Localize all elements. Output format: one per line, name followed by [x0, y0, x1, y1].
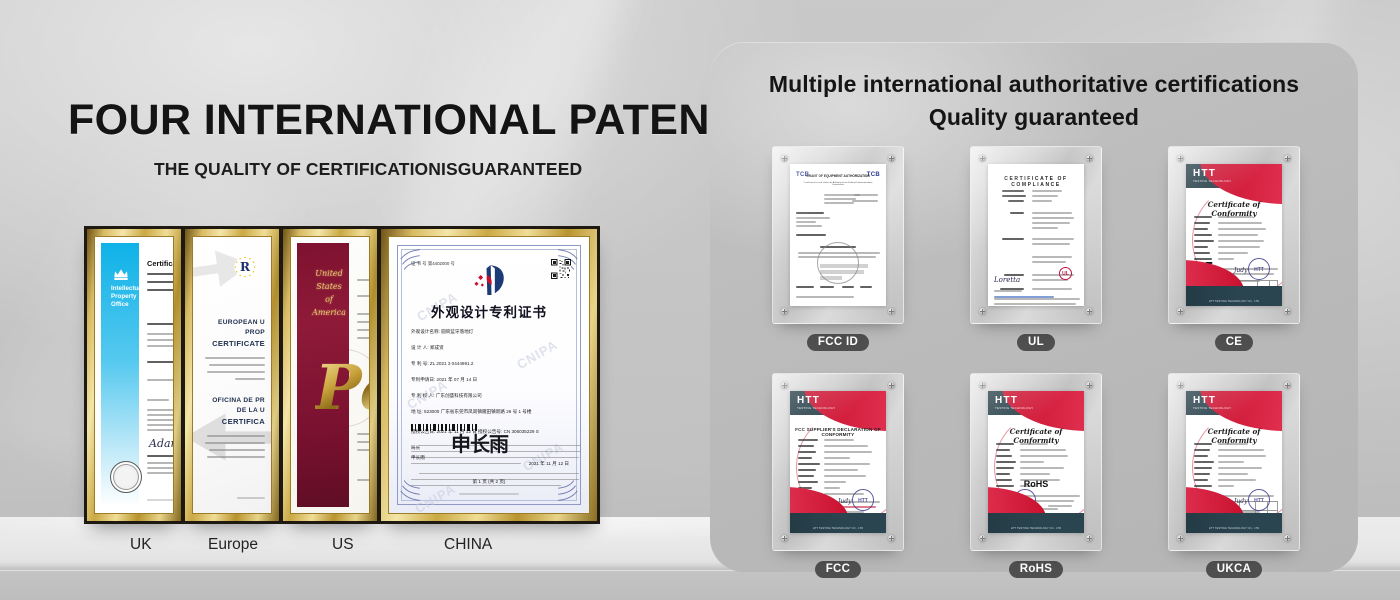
- screw-icon-tr: [1086, 155, 1093, 162]
- htt-brand-logo: HTTTESTING TECHNOLOGY: [797, 395, 835, 410]
- patent-document-uk: Intellectual Property Office Certificate…: [94, 236, 174, 514]
- patent-country-labels: UK Europe US CHINA: [84, 536, 624, 562]
- cn-field-patent-no: 专 利 号: ZL 2021 3 0444991.2: [411, 361, 473, 367]
- ul-signature: Loretta: [994, 276, 1020, 284]
- patent-frame-europe[interactable]: R EUROPEAN U PROP CERTIFICATE: [182, 226, 282, 524]
- screw-icon-bl: [979, 535, 986, 542]
- cn-field-address: 地 址: 523000 广东省东莞市凤岗镇雁田镇新路 26 号 1 号楼: [411, 409, 532, 415]
- cn-qr-code: [551, 259, 571, 279]
- tcb-doc-title: GRANT OF EQUIPMENT AUTHORIZATION: [790, 174, 886, 178]
- fcc-doc-title: FCC SUPPLIER'S DECLARATION OF CONFORMITY: [790, 427, 886, 437]
- htt-brand-logo: HTTTESTING TECHNOLOGY: [1193, 395, 1231, 410]
- page-title: FOUR INTERNATIONAL PATENTS: [68, 96, 668, 145]
- screw-icon-tl: [781, 155, 788, 162]
- screw-icon-br: [888, 308, 895, 315]
- rohs-mark-icon: RoHS: [988, 479, 1084, 489]
- cn-certificate-number: 证 书 号 第4402000 号: [411, 261, 455, 267]
- acrylic-plaque: TCB TCB GRANT OF EQUIPMENT AUTHORIZATION…: [772, 146, 904, 324]
- htt-footer-text: HTT TESTING TECHNOLOGY CO., LTD: [988, 527, 1084, 530]
- ukca-round-stamp: HTT: [1248, 489, 1270, 511]
- certification-label-fcc: FCC: [815, 561, 862, 578]
- screw-icon-bl: [979, 308, 986, 315]
- acrylic-plaque: HTTTESTING TECHNOLOGY FCC SUPPLIER'S DEC…: [772, 373, 904, 551]
- patent-frame-china[interactable]: CNIPA CNIPA CNIPA CNIPA CNIPA 证 书 号 第440…: [378, 226, 600, 524]
- certification-label-rohs: RoHS: [1009, 561, 1064, 578]
- cn-label-director: 局长: [411, 445, 420, 451]
- eu-title-es-3: CERTIFICA: [193, 417, 265, 426]
- cn-field-designer: 设 计 人: 郑成贤: [411, 345, 444, 351]
- screw-icon-tl: [1177, 155, 1184, 162]
- screw-icon-br: [888, 535, 895, 542]
- cn-certificate-title: 外观设计专利证书: [389, 301, 589, 321]
- ul-doc-title: CERTIFICATE OF COMPLIANCE: [988, 176, 1084, 188]
- country-label-china: CHINA: [444, 536, 492, 554]
- certification-cards-grid: TCB TCB GRANT OF EQUIPMENT AUTHORIZATION…: [772, 146, 1300, 578]
- certifications-title-line2: Quality guaranteed: [710, 101, 1358, 134]
- htt-brand-logo: HTTTESTING TECHNOLOGY: [995, 395, 1033, 410]
- htt-brand-logo: HTTTESTING TECHNOLOGY: [1193, 168, 1231, 183]
- cn-field-filing-date: 专利申请日: 2021 年 07 月 14 日: [411, 377, 477, 383]
- patent-document-china: CNIPA CNIPA CNIPA CNIPA CNIPA 证 书 号 第440…: [388, 236, 590, 514]
- tcb-doc-subtitle: Certification Issued Under the Authority…: [800, 182, 876, 186]
- page-subtitle: THE QUALITY OF CERTIFICATIONISGUARANTEED: [154, 159, 668, 180]
- htt-footer-text: HTT TESTING TECHNOLOGY CO., LTD: [1186, 527, 1282, 530]
- uk-ipo-sidebar: Intellectual Property Office: [101, 243, 139, 507]
- cn-signature: 申长雨: [451, 428, 508, 457]
- screw-icon-tl: [979, 382, 986, 389]
- uk-official-seal: [110, 461, 142, 493]
- screw-icon-tl: [1177, 382, 1184, 389]
- certification-label-ce: CE: [1215, 334, 1254, 351]
- certificate-document-fcc-id: TCB TCB GRANT OF EQUIPMENT AUTHORIZATION…: [790, 164, 886, 306]
- acrylic-plaque: HTTTESTING TECHNOLOGY Certificate of Con…: [970, 373, 1102, 551]
- cn-page-footer: 第 1 页 (共 2 页): [389, 479, 589, 485]
- uk-certificate-title: Certificate of R: [147, 259, 174, 268]
- svg-text:R: R: [240, 260, 251, 274]
- screw-icon-bl: [781, 535, 788, 542]
- eu-title-en-2: PROP: [193, 329, 265, 336]
- screw-icon-br: [1284, 308, 1291, 315]
- country-label-us: US: [332, 536, 354, 554]
- eu-title-en: EUROPEAN U: [193, 319, 265, 326]
- certificate-document-ul: CERTIFICATE OF COMPLIANCE: [988, 164, 1084, 306]
- certification-card-fcc[interactable]: HTTTESTING TECHNOLOGY FCC SUPPLIER'S DEC…: [772, 373, 904, 578]
- certifications-title: Multiple international authoritative cer…: [710, 68, 1358, 134]
- certification-row-2: HTTTESTING TECHNOLOGY FCC SUPPLIER'S DEC…: [772, 373, 1300, 578]
- htt-footer-text: HTT TESTING TECHNOLOGY CO., LTD: [1186, 300, 1282, 303]
- country-label-uk: UK: [130, 536, 152, 554]
- certification-label-fcc-id: FCC ID: [807, 334, 869, 351]
- certificate-document-rohs: HTTTESTING TECHNOLOGY Certificate of Con…: [988, 391, 1084, 533]
- patent-document-europe: R EUROPEAN U PROP CERTIFICATE: [192, 236, 272, 514]
- uk-signature: Adam: [149, 437, 174, 450]
- screw-icon-tl: [979, 155, 986, 162]
- patent-document-us: UnitedStatesofAmerica Pa: [290, 236, 370, 514]
- cn-corner-ornament-tl: [399, 247, 425, 273]
- ul-mark-icon: UL: [1059, 267, 1072, 280]
- screw-icon-tl: [781, 382, 788, 389]
- cnipa-logo-icon: [469, 263, 509, 297]
- certification-label-ukca: UKCA: [1206, 561, 1262, 578]
- certification-card-ul[interactable]: CERTIFICATE OF COMPLIANCE: [970, 146, 1102, 351]
- fcc-official-seal: [817, 242, 859, 284]
- eu-title-en-3: CERTIFICATE: [193, 339, 265, 348]
- cn-field-patentee: 专 利 权 人: 广东创盛科技有限公司: [411, 393, 482, 399]
- patent-certificate-group: Intellectual Property Office Certificate…: [84, 226, 598, 524]
- left-heading-block: FOUR INTERNATIONAL PATENTS THE QUALITY O…: [68, 96, 668, 180]
- certification-card-ukca[interactable]: HTTTESTING TECHNOLOGY Certificate of Con…: [1168, 373, 1300, 578]
- certifications-title-line1: Multiple international authoritative cer…: [710, 68, 1358, 101]
- screw-icon-br: [1284, 535, 1291, 542]
- eu-title-es: OFICINA DE PR: [193, 397, 265, 404]
- certificate-document-ce: HTTTESTING TECHNOLOGY Certificate of Con…: [1186, 164, 1282, 306]
- certificate-document-fcc: HTTTESTING TECHNOLOGY FCC SUPPLIER'S DEC…: [790, 391, 886, 533]
- screw-icon-tr: [888, 155, 895, 162]
- country-label-europe: Europe: [208, 536, 258, 554]
- cn-field-design-name: 外观设计名称: 圆筒蓝牙落地灯: [411, 329, 473, 335]
- patent-frame-us[interactable]: UnitedStatesofAmerica Pa: [280, 226, 380, 524]
- screw-icon-bl: [1177, 308, 1184, 315]
- certification-card-fcc-id[interactable]: TCB TCB GRANT OF EQUIPMENT AUTHORIZATION…: [772, 146, 904, 351]
- poster-stage: FOUR INTERNATIONAL PATENTS THE QUALITY O…: [0, 0, 1400, 600]
- htt-footer-text: HTT TESTING TECHNOLOGY CO., LTD: [790, 527, 886, 530]
- screw-icon-tr: [888, 382, 895, 389]
- screw-icon-bl: [1177, 535, 1184, 542]
- cn-issue-date: 2021 年 11 月 12 日: [529, 461, 569, 467]
- certification-label-ul: UL: [1017, 334, 1055, 351]
- screw-icon-bl: [781, 308, 788, 315]
- euipo-logo-icon: R: [233, 255, 257, 279]
- us-patent-wordmark: Pa: [315, 357, 370, 419]
- screw-icon-br: [1086, 308, 1093, 315]
- patent-frame-uk[interactable]: Intellectual Property Office Certificate…: [84, 226, 184, 524]
- acrylic-plaque: CERTIFICATE OF COMPLIANCE: [970, 146, 1102, 324]
- uk-issuer-label: Intellectual Property Office: [111, 285, 145, 309]
- eu-title-es-2: DE LA U: [193, 407, 265, 414]
- fcc-round-stamp: HTT: [852, 489, 874, 511]
- ce-round-stamp: HTT: [1248, 258, 1270, 280]
- screw-icon-br: [1086, 535, 1093, 542]
- certification-card-ce[interactable]: HTTTESTING TECHNOLOGY Certificate of Con…: [1168, 146, 1300, 351]
- certifications-panel: Multiple international authoritative cer…: [710, 42, 1358, 572]
- us-band-text: UnitedStatesofAmerica: [305, 267, 353, 319]
- screw-icon-tr: [1086, 382, 1093, 389]
- certificate-document-ukca: HTTTESTING TECHNOLOGY Certificate of Con…: [1186, 391, 1282, 533]
- cn-label-seal: 申长雨: [411, 455, 425, 461]
- screw-icon-tr: [1284, 155, 1291, 162]
- acrylic-plaque: HTTTESTING TECHNOLOGY Certificate of Con…: [1168, 146, 1300, 324]
- certification-row-1: TCB TCB GRANT OF EQUIPMENT AUTHORIZATION…: [772, 146, 1300, 351]
- screw-icon-tr: [1284, 382, 1291, 389]
- uk-crown-icon: [113, 267, 129, 281]
- acrylic-plaque: HTTTESTING TECHNOLOGY Certificate of Con…: [1168, 373, 1300, 551]
- ce-signature: Judy: [1234, 267, 1248, 274]
- certification-card-rohs[interactable]: HTTTESTING TECHNOLOGY Certificate of Con…: [970, 373, 1102, 578]
